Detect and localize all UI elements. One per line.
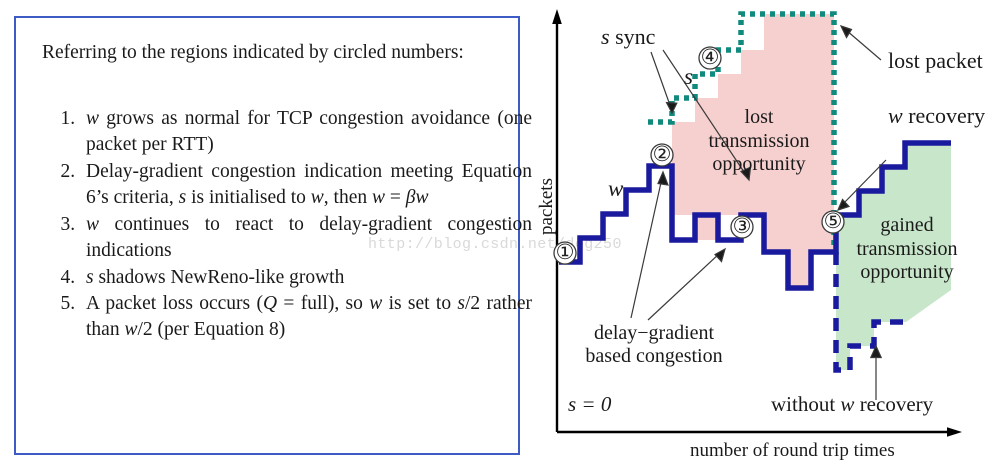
step-5-text: A packet loss occurs (Q = full), so w is…: [86, 293, 532, 340]
tcp-window-diagram: ① ② ③ ④ ⑤ packets number of round trip t…: [524, 0, 1000, 473]
gained-opportunity-region: [836, 143, 951, 370]
lost-opportunity-region: [672, 14, 834, 288]
step-3-text: w continues to react to delay-gradient c…: [86, 214, 532, 261]
list-item: s shadows NewReno-like growth: [80, 265, 532, 291]
explanation-panel: Referring to the regions indicated by ci…: [14, 16, 520, 455]
list-item: Delay-gradient congestion indication mee…: [80, 159, 532, 211]
panel-intro-text: Referring to the regions indicated by ci…: [42, 40, 494, 66]
step-1-text: w grows as normal for TCP congestion avo…: [86, 108, 532, 155]
list-item: w grows as normal for TCP congestion avo…: [80, 106, 532, 158]
step-4-text: s shadows NewReno-like growth: [86, 267, 344, 288]
figure-root: Referring to the regions indicated by ci…: [0, 0, 1000, 473]
list-item: w continues to react to delay-gradient c…: [80, 212, 532, 264]
step-2-text: Delay-gradient congestion indication mee…: [86, 161, 532, 208]
numbered-steps-list: w grows as normal for TCP congestion avo…: [46, 106, 532, 344]
list-item: A packet loss occurs (Q = full), so w is…: [80, 291, 532, 343]
